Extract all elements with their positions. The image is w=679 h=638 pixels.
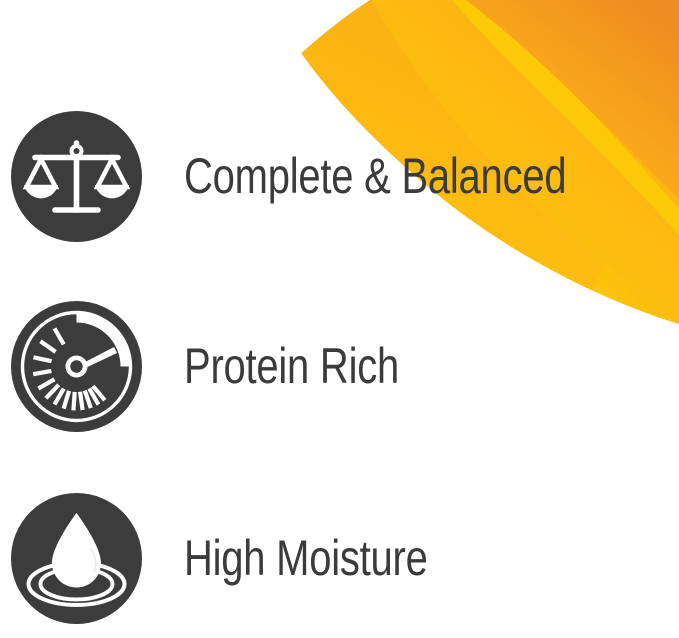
- gauge-hub-center: [70, 360, 82, 372]
- product-feature-poster: Complete & Balanced: [0, 0, 679, 638]
- feature-row-high-moisture: High Moisture: [0, 492, 679, 624]
- feature-row-complete-balanced: Complete & Balanced: [0, 110, 679, 242]
- feature-label: Protein Rich: [184, 341, 399, 391]
- water-droplet-icon: [11, 493, 142, 624]
- water-droplet-svg: [11, 493, 142, 624]
- gauge-meter-svg: [11, 301, 142, 432]
- gauge-meter-icon: [11, 301, 142, 432]
- feature-row-protein-rich: Protein Rich: [0, 300, 679, 432]
- balance-scale-icon: [11, 111, 142, 242]
- feature-label: Complete & Balanced: [184, 151, 566, 201]
- feature-label: High Moisture: [184, 533, 428, 583]
- balance-scale-svg: [11, 111, 142, 242]
- scale-pivot-center: [74, 148, 80, 154]
